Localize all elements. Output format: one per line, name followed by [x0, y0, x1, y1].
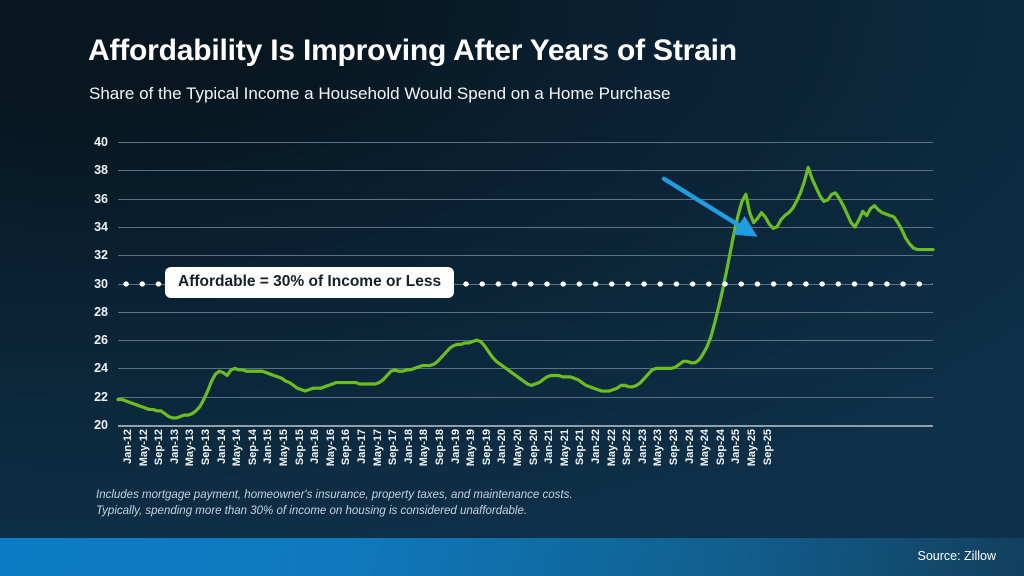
footnote: Includes mortgage payment, homeowner's i…	[96, 488, 573, 519]
x-tick-jan-23: Jan-23	[637, 429, 649, 464]
x-tick-sep-18: Sep-18	[434, 429, 446, 465]
x-tick-sep-23: Sep-23	[668, 429, 680, 465]
x-tick-jan-18: Jan-18	[403, 429, 415, 464]
gridline-20	[118, 425, 933, 427]
x-tick-may-22: May-22	[606, 429, 618, 466]
x-tick-jan-14: Jan-14	[216, 429, 228, 464]
x-tick-may-24: May-24	[699, 429, 711, 466]
x-tick-jan-17: Jan-17	[356, 429, 368, 464]
x-tick-may-18: May-18	[418, 429, 430, 466]
x-tick-jan-20: Jan-20	[496, 429, 508, 464]
x-tick-may-16: May-16	[325, 429, 337, 466]
x-tick-jan-19: Jan-19	[450, 429, 462, 464]
x-tick-sep-15: Sep-15	[294, 429, 306, 465]
x-tick-jan-15: Jan-15	[262, 429, 274, 464]
x-tick-jan-12: Jan-12	[122, 429, 134, 464]
x-tick-may-21: May-21	[559, 429, 571, 466]
y-tick-22: 22	[74, 390, 108, 404]
x-tick-jan-24: Jan-24	[684, 429, 696, 464]
trend-arrow-shaft	[664, 179, 742, 228]
x-tick-sep-14: Sep-14	[247, 429, 259, 465]
x-tick-sep-17: Sep-17	[387, 429, 399, 465]
y-tick-38: 38	[74, 163, 108, 177]
threshold-label-pill: Affordable = 30% of Income or Less	[165, 267, 454, 298]
x-tick-may-23: May-23	[652, 429, 664, 466]
x-tick-may-19: May-19	[465, 429, 477, 466]
x-tick-may-17: May-17	[372, 429, 384, 466]
footnote-line-1: Includes mortgage payment, homeowner's i…	[96, 488, 573, 504]
x-tick-sep-13: Sep-13	[200, 429, 212, 465]
chart-slide: Affordability Is Improving After Years o…	[0, 0, 1024, 576]
x-tick-jan-16: Jan-16	[309, 429, 321, 464]
y-tick-34: 34	[74, 220, 108, 234]
source-attribution: Source: Zillow	[918, 549, 997, 563]
x-tick-sep-19: Sep-19	[481, 429, 493, 465]
x-axis-labels: Jan-12May-12Sep-12Jan-13May-13Sep-13Jan-…	[118, 429, 933, 487]
x-tick-may-13: May-13	[184, 429, 196, 466]
x-tick-jan-13: Jan-13	[169, 429, 181, 464]
x-tick-jan-22: Jan-22	[590, 429, 602, 464]
x-tick-jan-25: Jan-25	[730, 429, 742, 464]
x-tick-may-25: May-25	[746, 429, 758, 466]
x-tick-sep-22: Sep-22	[621, 429, 633, 465]
x-tick-sep-25: Sep-25	[762, 429, 774, 465]
y-tick-26: 26	[74, 333, 108, 347]
y-tick-24: 24	[74, 361, 108, 375]
page-title: Affordability Is Improving After Years o…	[88, 34, 737, 68]
x-tick-jan-21: Jan-21	[543, 429, 555, 464]
y-tick-40: 40	[74, 135, 108, 149]
x-tick-sep-16: Sep-16	[340, 429, 352, 465]
x-tick-may-15: May-15	[278, 429, 290, 466]
y-axis-labels: 2022242628303234363840	[84, 142, 108, 425]
x-tick-sep-24: Sep-24	[715, 429, 727, 465]
x-tick-sep-20: Sep-20	[528, 429, 540, 465]
trend-arrow	[664, 179, 758, 237]
x-tick-may-20: May-20	[512, 429, 524, 466]
x-tick-sep-21: Sep-21	[574, 429, 586, 465]
footnote-line-2: Typically, spending more than 30% of inc…	[96, 504, 573, 520]
page-subtitle: Share of the Typical Income a Household …	[89, 84, 671, 104]
y-tick-20: 20	[74, 418, 108, 432]
x-tick-sep-12: Sep-12	[153, 429, 165, 465]
y-tick-36: 36	[74, 192, 108, 206]
x-tick-may-12: May-12	[138, 429, 150, 466]
x-tick-may-14: May-14	[231, 429, 243, 466]
y-tick-32: 32	[74, 248, 108, 262]
footer-bar: Source: Zillow	[0, 538, 1024, 576]
y-tick-28: 28	[74, 305, 108, 319]
y-tick-30: 30	[74, 277, 108, 291]
